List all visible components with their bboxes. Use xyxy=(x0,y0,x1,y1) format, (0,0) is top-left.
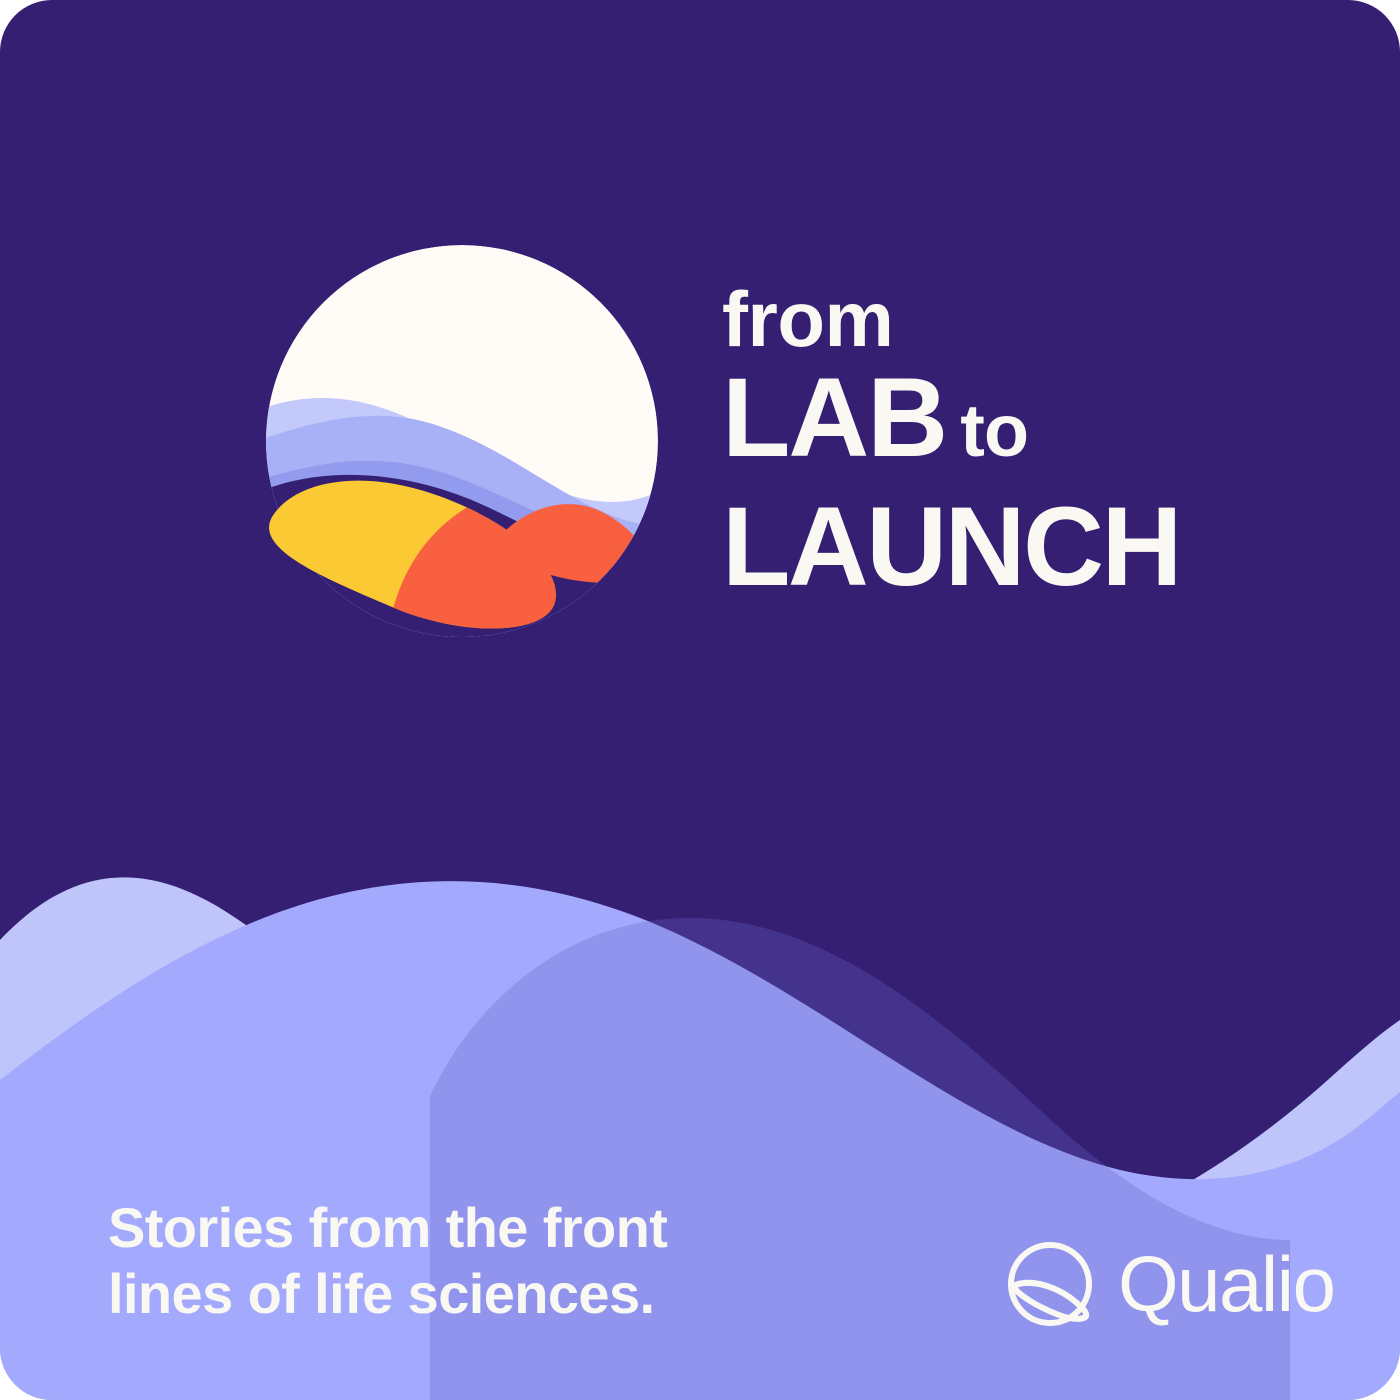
podcast-cover-art: from LABto LAUNCH Stories from the front… xyxy=(0,0,1400,1400)
title-word-launch: LAUNCH xyxy=(722,487,1322,607)
tagline-line-1: Stories from the front xyxy=(108,1195,768,1261)
title-line-lab-to: LABto xyxy=(722,362,1322,487)
title-word-to: to xyxy=(960,389,1028,472)
tagline-line-2: lines of life sciences. xyxy=(108,1261,768,1327)
qualio-logo-lockup: Qualio xyxy=(1004,1238,1334,1330)
title-word-from: from xyxy=(722,276,1322,362)
qualio-wordmark: Qualio xyxy=(1118,1245,1334,1323)
lab-to-launch-sun-landscape-icon xyxy=(266,245,658,637)
qualio-circle-leaf-icon xyxy=(1004,1238,1096,1330)
title-word-lab: LAB xyxy=(722,355,946,480)
tagline: Stories from the front lines of life sci… xyxy=(108,1195,768,1327)
show-title: from LABto LAUNCH xyxy=(722,276,1322,607)
background-waves-graphic xyxy=(0,0,1400,1400)
